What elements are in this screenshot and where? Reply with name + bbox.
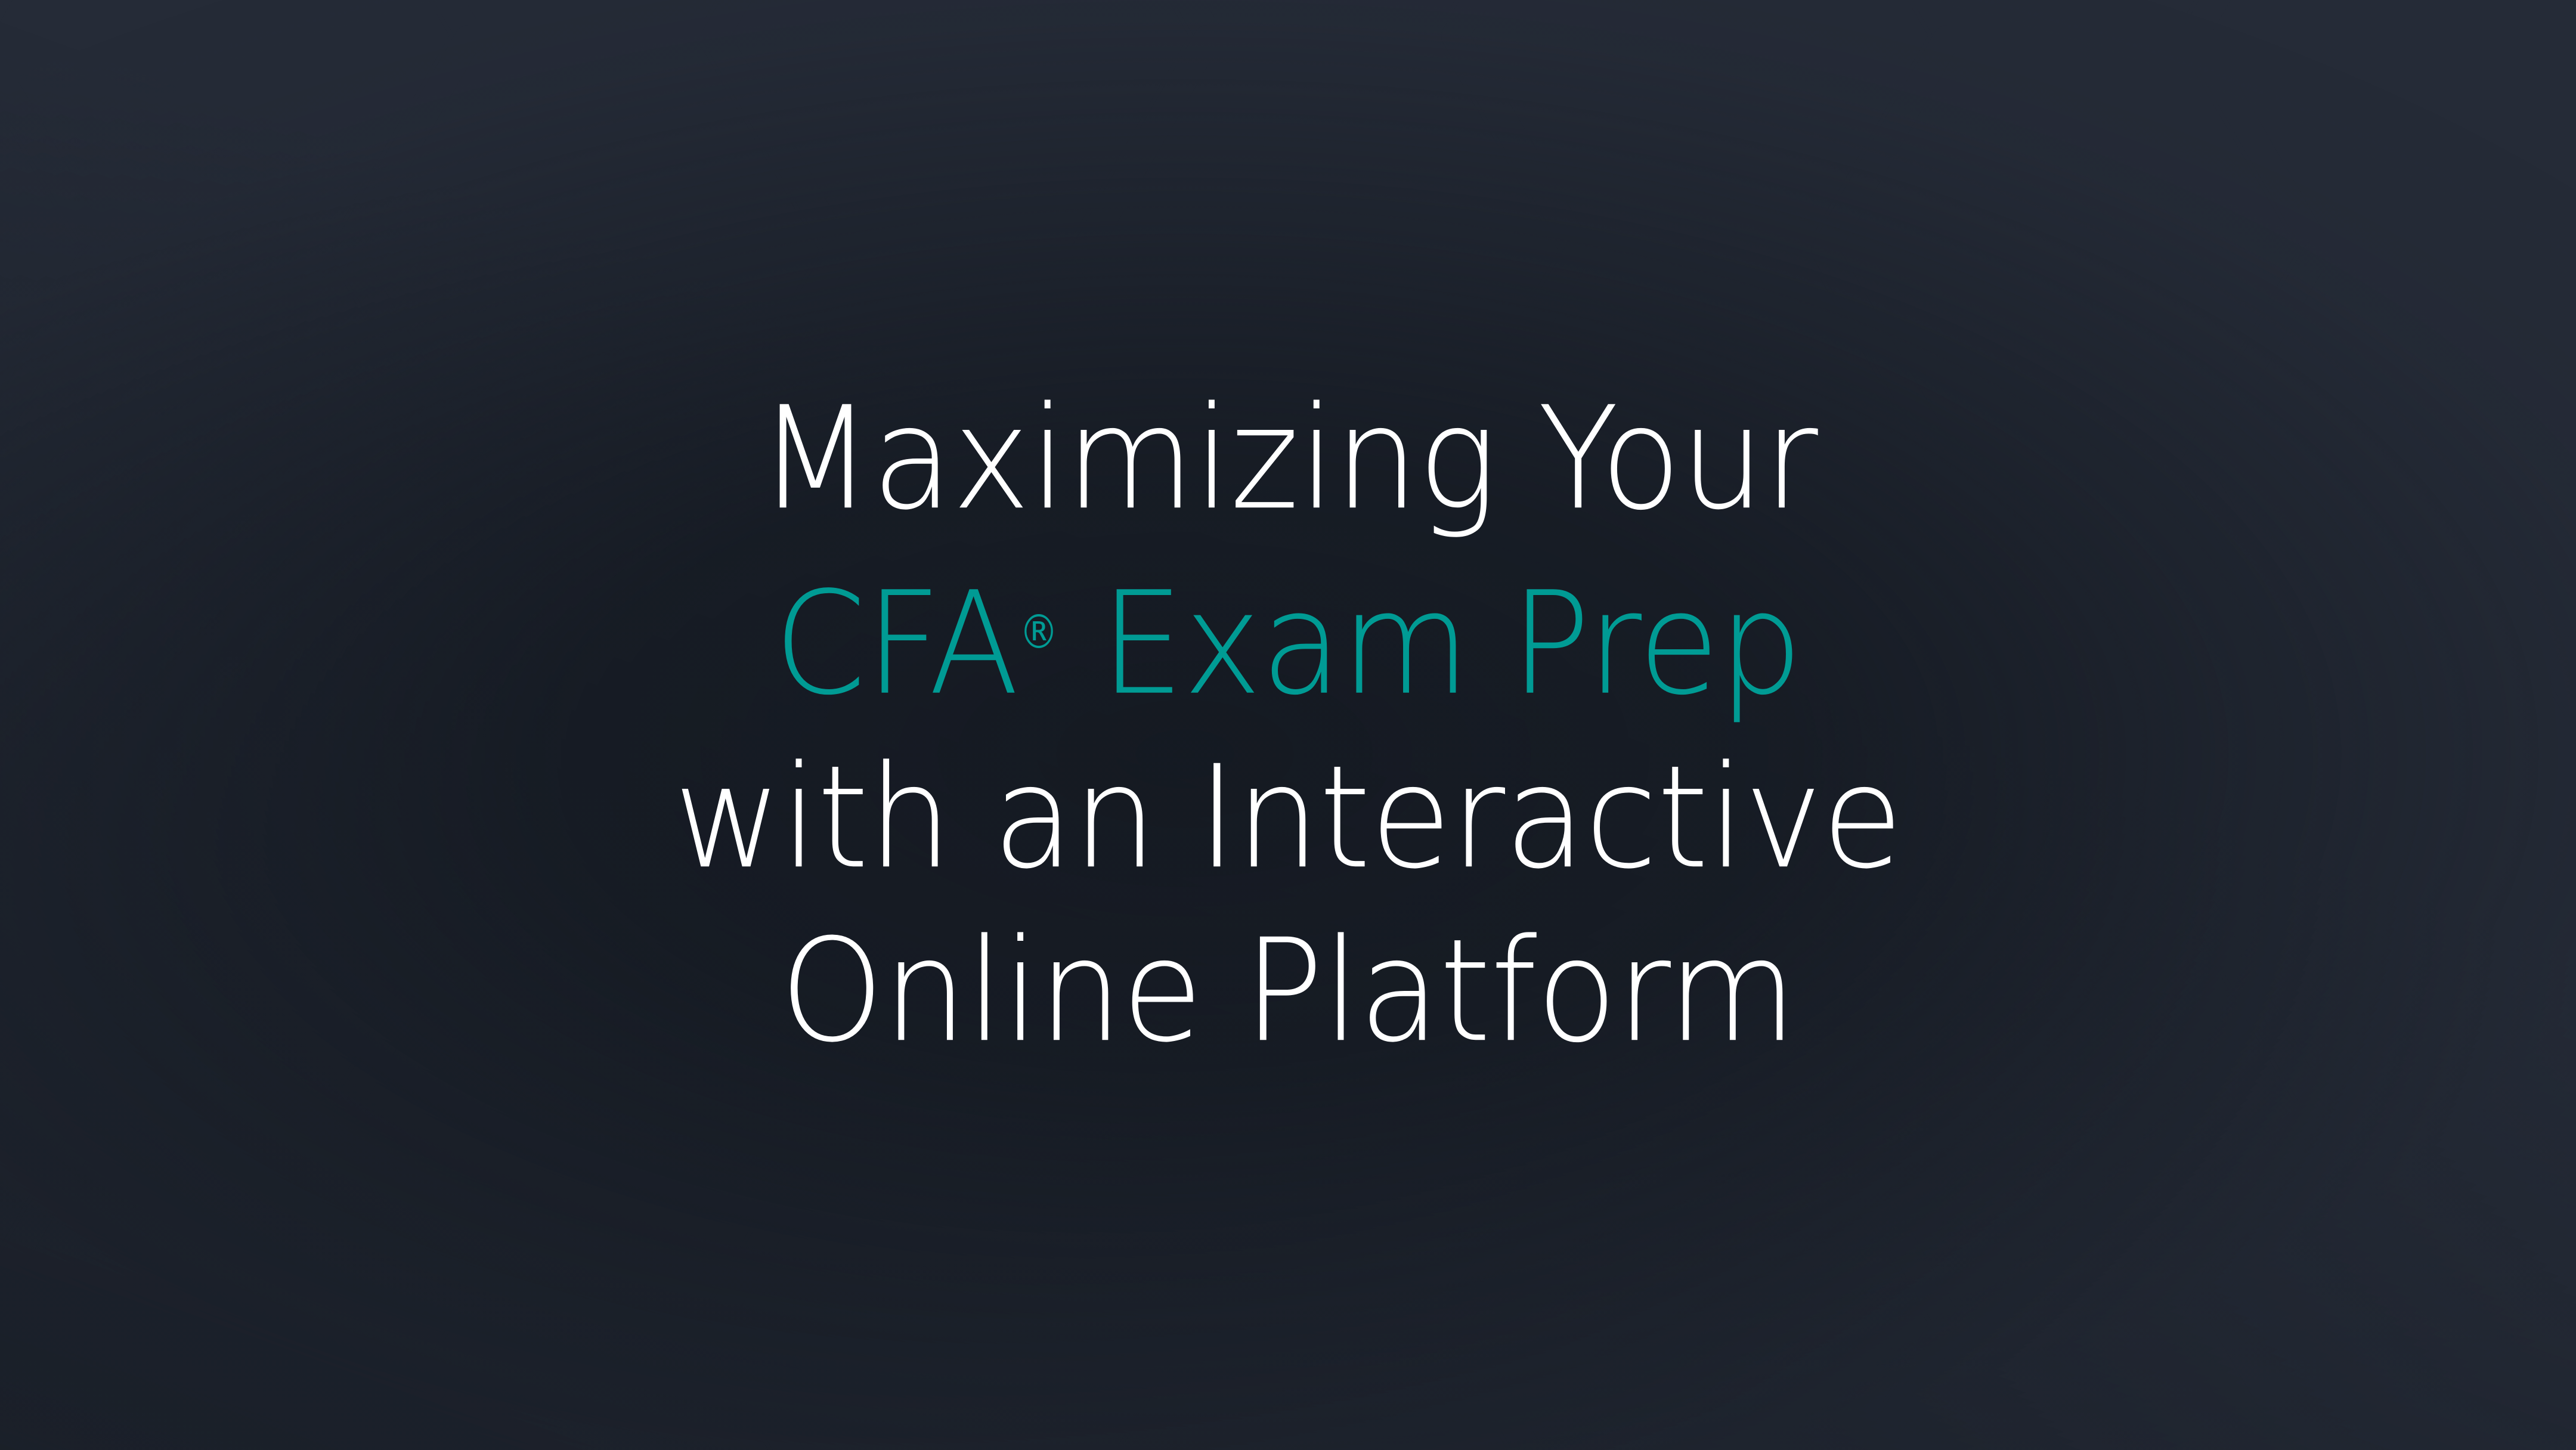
title-line-2-suffix: Exam Prep [1059,562,1802,727]
title-line-2: CFA® Exam Prep [190,546,2386,731]
title-line-2-prefix: CFA [774,562,1018,727]
page-title: Maximizing Your CFA® Exam Prep with an I… [0,372,2576,1078]
title-line-3: with an Interactive [190,731,2386,904]
registered-trademark-icon: ® [1019,605,1058,659]
title-card-slide: Maximizing Your CFA® Exam Prep with an I… [0,0,2576,1450]
title-line-1: Maximizing Your [190,372,2386,546]
title-line-4: Online Platform [190,904,2386,1078]
